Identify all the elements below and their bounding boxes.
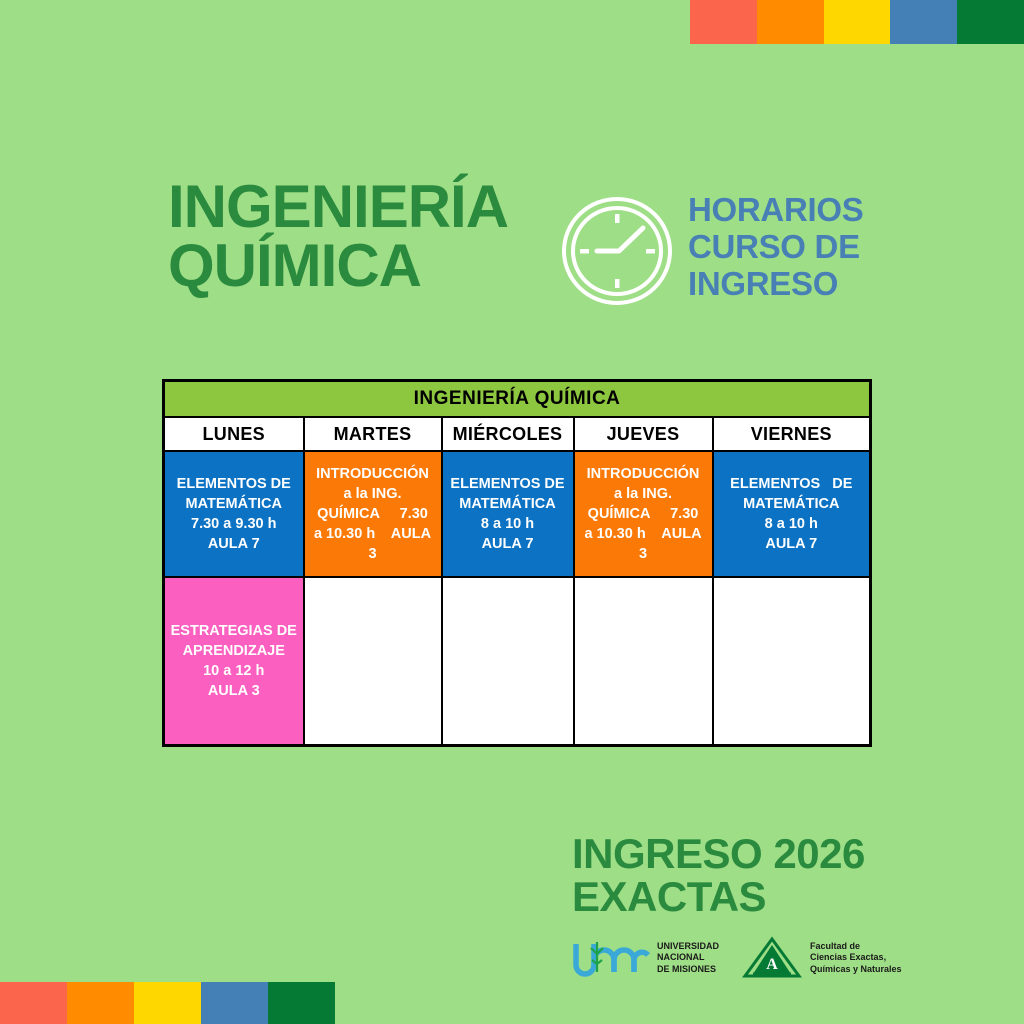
cell-text: ESTRATEGIAS DEAPRENDIZAJE10 a 12 hAULA 3 — [167, 621, 301, 701]
page-title-line1: INGENIERÍA — [168, 173, 508, 240]
header-subtitle-line3: INGRESO — [688, 266, 898, 303]
cell-text-line: a 10.30 h AULA — [577, 524, 710, 544]
cell-text-line: a 10.30 h AULA — [307, 524, 439, 544]
cell-text-line: MATEMÁTICA — [716, 494, 868, 514]
cell-text-line: APRENDIZAJE — [167, 641, 301, 661]
cell-text-line: 8 a 10 h — [716, 514, 868, 534]
fcen-logo-group: A Facultad de Ciencias Exactas, Químicas… — [741, 936, 902, 980]
cell-text-line: ESTRATEGIAS DE — [167, 621, 301, 641]
header-subtitle-line1: HORARIOS — [688, 192, 898, 229]
footer-logos: UNIVERSIDAD NACIONAL DE MISIONES A Facul… — [572, 930, 942, 986]
cell-text-line: AULA 7 — [167, 534, 301, 554]
schedule-cell-jueves — [574, 577, 713, 746]
schedule-cell-viernes — [713, 577, 871, 746]
header: INGENIERÍA QUÍMICA HORARIOS CURSO DE ING… — [168, 178, 888, 318]
strip-bar-orange — [67, 982, 134, 1024]
schedule-cell-lunes: ELEMENTOS DEMATEMÁTICA7.30 a 9.30 hAULA … — [164, 451, 304, 577]
schedule-cell-viernes: ELEMENTOS DEMATEMÁTICA8 a 10 hAULA 7 — [713, 451, 871, 577]
fcen-logo-icon: A — [741, 936, 803, 980]
schedule-cell-jueves: INTRODUCCIÓNa la ING.QUÍMICA 7.30a 10.30… — [574, 451, 713, 577]
header-subtitle-line2: CURSO DE — [688, 229, 898, 266]
cell-text-line: AULA 7 — [716, 534, 868, 554]
cell-text: ELEMENTOS DEMATEMÁTICA8 a 10 hAULA 7 — [716, 474, 868, 554]
column-header-martes: MARTES — [304, 417, 442, 451]
cell-text-line: ELEMENTOS DE — [445, 474, 571, 494]
clock-icon — [557, 195, 677, 307]
cell-text: ELEMENTOS DEMATEMÁTICA8 a 10 hAULA 7 — [445, 474, 571, 554]
column-header-lunes: LUNES — [164, 417, 304, 451]
cell-text-line: 10 a 12 h — [167, 661, 301, 681]
cell-text: INTRODUCCIÓNa la ING.QUÍMICA 7.30a 10.30… — [577, 464, 710, 564]
cell-text: ELEMENTOS DEMATEMÁTICA7.30 a 9.30 hAULA … — [167, 474, 301, 554]
schedule-table: INGENIERÍA QUÍMICA LUNES MARTES MIÉRCOLE… — [162, 379, 872, 747]
cell-text-line: ELEMENTOS DE — [716, 474, 868, 494]
fcen-logo-line2: Ciencias Exactas, — [810, 952, 902, 964]
schedule-cell-martes: INTRODUCCIÓNa la ING.QUÍMICA 7.30a 10.30… — [304, 451, 442, 577]
table-header-row: LUNES MARTES MIÉRCOLES JUEVES VIERNES — [164, 417, 871, 451]
campaign-title-line2: EXACTAS — [572, 876, 892, 919]
table-row: ELEMENTOS DEMATEMÁTICA7.30 a 9.30 hAULA … — [164, 451, 871, 577]
campaign-title: INGRESO 2026 EXACTAS — [572, 833, 892, 919]
cell-text: INTRODUCCIÓNa la ING.QUÍMICA 7.30a 10.30… — [307, 464, 439, 564]
table-title: INGENIERÍA QUÍMICA — [164, 381, 871, 418]
cell-text-line: QUÍMICA 7.30 — [577, 504, 710, 524]
campaign-title-line1: INGRESO 2026 — [572, 833, 892, 876]
cell-text-line: a la ING. — [577, 484, 710, 504]
strip-bar-blue — [890, 0, 957, 44]
schedule-cell-martes — [304, 577, 442, 746]
unam-logo-text: UNIVERSIDAD NACIONAL DE MISIONES — [657, 941, 719, 976]
unam-logo-line2: NACIONAL — [657, 952, 719, 964]
schedule-cell-miércoles — [442, 577, 574, 746]
schedule-cell-lunes: ESTRATEGIAS DEAPRENDIZAJE10 a 12 hAULA 3 — [164, 577, 304, 746]
bottom-color-strip — [0, 982, 335, 1024]
cell-text-line: 7.30 a 9.30 h — [167, 514, 301, 534]
unam-logo-icon — [572, 938, 650, 978]
cell-text-line: INTRODUCCIÓN — [307, 464, 439, 484]
cell-text-line: INTRODUCCIÓN — [577, 464, 710, 484]
cell-text-line: 3 — [307, 544, 439, 564]
top-color-strip — [690, 0, 1024, 44]
column-header-miercoles: MIÉRCOLES — [442, 417, 574, 451]
table-title-row: INGENIERÍA QUÍMICA — [164, 381, 871, 418]
strip-bar-yellow — [824, 0, 891, 44]
cell-text-line: QUÍMICA 7.30 — [307, 504, 439, 524]
strip-bar-yellow — [134, 982, 201, 1024]
strip-bar-orange — [757, 0, 824, 44]
schedule-cell-miércoles: ELEMENTOS DEMATEMÁTICA8 a 10 hAULA 7 — [442, 451, 574, 577]
header-subtitle: HORARIOS CURSO DE INGRESO — [688, 192, 898, 303]
fcen-logo-line1: Facultad de — [810, 941, 902, 953]
column-header-jueves: JUEVES — [574, 417, 713, 451]
cell-text-line: 8 a 10 h — [445, 514, 571, 534]
cell-text-line: 3 — [577, 544, 710, 564]
strip-bar-green — [957, 0, 1024, 44]
cell-text-line: ELEMENTOS DE — [167, 474, 301, 494]
cell-text-line: AULA 3 — [167, 681, 301, 701]
cell-text-line: MATEMÁTICA — [167, 494, 301, 514]
cell-text-line: MATEMÁTICA — [445, 494, 571, 514]
cell-text-line: AULA 7 — [445, 534, 571, 554]
page-title-line2: QUÍMICA — [168, 237, 528, 296]
strip-bar-blue — [201, 982, 268, 1024]
strip-bar-red — [690, 0, 757, 44]
unam-logo-line3: DE MISIONES — [657, 964, 719, 976]
fcen-logo-text: Facultad de Ciencias Exactas, Químicas y… — [810, 941, 902, 976]
page-title: INGENIERÍA QUÍMICA — [168, 178, 528, 296]
table-row: ESTRATEGIAS DEAPRENDIZAJE10 a 12 hAULA 3 — [164, 577, 871, 746]
svg-text:A: A — [766, 956, 778, 973]
column-header-viernes: VIERNES — [713, 417, 871, 451]
unam-logo-line1: UNIVERSIDAD — [657, 941, 719, 953]
unam-logo-group: UNIVERSIDAD NACIONAL DE MISIONES — [572, 938, 719, 978]
cell-text-line: a la ING. — [307, 484, 439, 504]
fcen-logo-line3: Químicas y Naturales — [810, 964, 902, 976]
strip-bar-green — [268, 982, 335, 1024]
strip-bar-red — [0, 982, 67, 1024]
